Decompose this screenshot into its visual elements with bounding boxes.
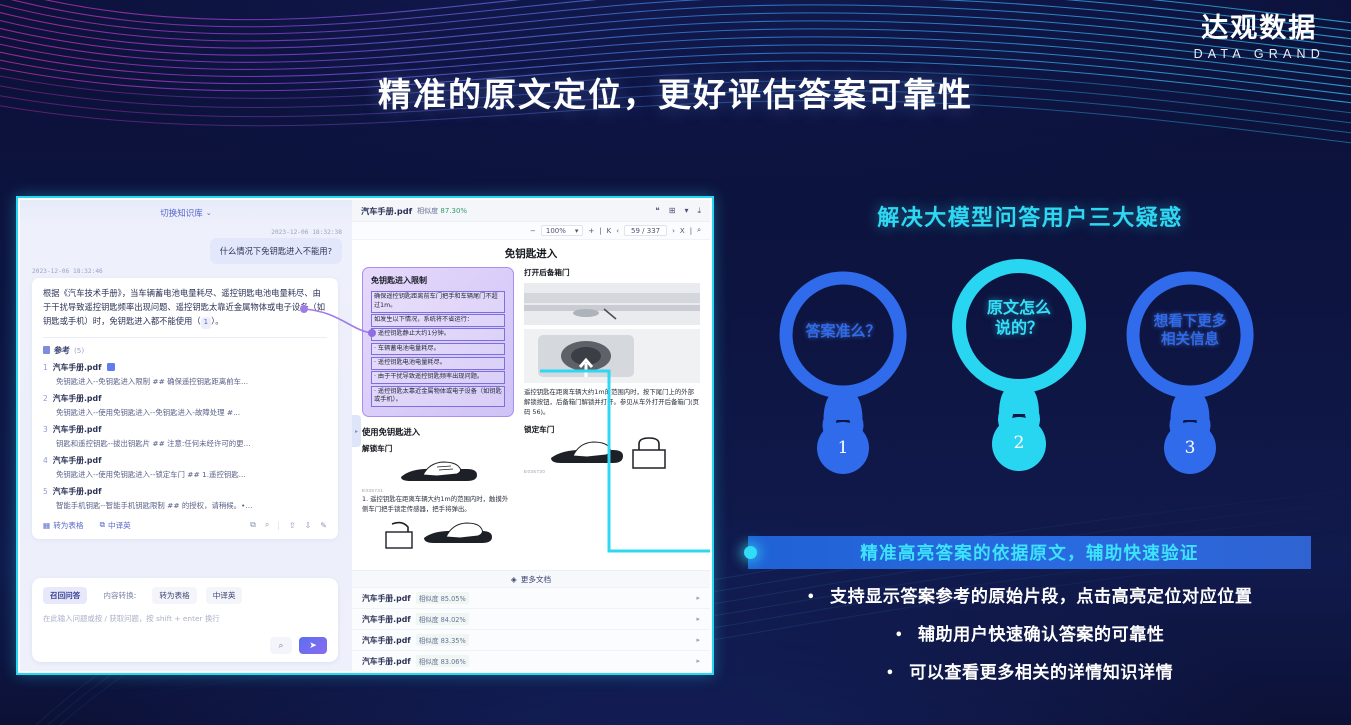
similarity-label: 相似度: [419, 616, 439, 624]
user-question-bubble: 什么情况下免钥匙进入不能用?: [210, 238, 342, 264]
bullet-mark: •: [807, 590, 816, 605]
pin-2-label-line2: 说的？: [995, 318, 1043, 337]
chevron-right-icon[interactable]: ▸: [696, 657, 700, 665]
pin-1-number: 1: [770, 438, 916, 458]
reference-file: 汽车手册.pdf: [53, 362, 102, 373]
knowledge-base-switcher[interactable]: 切换知识库 ⌄: [160, 207, 211, 219]
prev-page-button[interactable]: ‹: [616, 227, 619, 235]
answer-toolbar: ▦ 转为表格 ⧉ 中译英 ⧉ ⌕ | ⇧ ⇩ ✎: [43, 520, 327, 531]
trunk-illustration: [524, 283, 700, 325]
answer-body: 根据《汽车技术手册》，当车辆蓄电池电量耗尽、遥控钥匙电池电量耗尽、由于干扰导致遥…: [43, 288, 325, 326]
zoom-in-button[interactable]: +: [588, 227, 594, 235]
zoom-out-button[interactable]: −: [530, 227, 536, 235]
chevron-down-icon: ▾: [575, 227, 579, 235]
answer-tail: ）。: [211, 316, 223, 326]
brand-name-en: DATA GRAND: [1194, 47, 1325, 61]
pdf-section-trunk: 打开后备箱门: [524, 267, 700, 278]
doc-similarity: 相似度 83.35%: [416, 634, 469, 646]
answer-timestamp: 2023-12-06 18:32:46: [20, 264, 352, 278]
zoom-select[interactable]: 100% ▾: [541, 225, 584, 236]
first-page-button[interactable]: K: [607, 227, 612, 235]
grid-icon: ▦: [43, 521, 50, 530]
panel-collapse-handle[interactable]: ▸: [352, 415, 361, 447]
pdf-page-content: 免钥匙进入 免钥匙进入限制 确保遥控钥匙距离前车门把手和车辆尾门不超过1m。 如…: [352, 240, 710, 570]
reference-file: 汽车手册.pdf: [53, 486, 102, 497]
pin-1-text: 答案准么？: [770, 322, 916, 340]
table-row[interactable]: 汽车手册.pdf 相似度 85.05% ▸: [352, 587, 710, 608]
references-count: (5): [74, 346, 84, 355]
chevron-down-icon: ⌄: [206, 209, 212, 217]
translate-icon: ⧉: [100, 520, 105, 530]
pin-group: 答案准么？ 1 原文怎么 说的？ 2 想看下更多 相关信息 3: [760, 270, 1300, 485]
last-page-button[interactable]: X: [680, 227, 685, 235]
doc-similarity: 相似度 83.06%: [416, 655, 469, 667]
reference-title-row: 5 汽车手册.pdf: [43, 486, 327, 497]
similarity-label: 相似度: [419, 637, 439, 645]
pin-3-label-line1: 想看下更多: [1154, 314, 1227, 330]
doc-similarity: 相似度 85.05%: [416, 592, 469, 604]
product-screenshot-panel: 切换知识库 ⌄ 2023-12-06 18:32:38 什么情况下免钥匙进入不能…: [16, 196, 714, 675]
pin-3-text: 想看下更多 相关信息: [1117, 314, 1263, 349]
highlight-line: 如发生以下情况，系统将不省运行：: [371, 314, 505, 327]
divider: |: [690, 227, 692, 235]
feature-bullets: • 支持显示答案参考的原始片段，点击高亮定位对应位置 • 辅助用户快速确认答案的…: [748, 582, 1311, 696]
composer-input[interactable]: 在此输入问题或按 / 获取问题，按 shift + enter 换行: [43, 613, 327, 624]
pdf-document-title: 免钥匙进入: [362, 246, 700, 261]
highlight-line: · 由于干扰导致遥控钥匙频率出现问题。: [371, 371, 505, 384]
bullet-text: 支持显示答案参考的原始片段，点击高亮定位对应位置: [830, 587, 1252, 607]
chevron-right-icon[interactable]: ▸: [696, 636, 700, 644]
pdf-section-unlock: 解锁车门: [362, 443, 514, 454]
similarity-value: 83.35%: [441, 637, 466, 645]
page-indicator[interactable]: 59 / 337: [624, 225, 667, 236]
reference-snippet: 免钥匙进入--使用免钥匙进入--免钥匙进入-故障处理 #...: [56, 407, 327, 418]
feature-banner: 精准高亮答案的依据原文，辅助快速验证: [748, 536, 1311, 569]
trunk-text: 遥控钥匙在距离车辆大约1m的范围内时，按下尾门上的外部解锁按钮，后备箱门解锁并打…: [524, 388, 700, 418]
pin-2[interactable]: 原文怎么 说的？ 2: [946, 258, 1092, 488]
thumb-up-icon[interactable]: ⇧: [289, 521, 296, 530]
question-timestamp: 2023-12-06 18:32:38: [20, 226, 352, 238]
search-icon[interactable]: ⌕: [265, 520, 269, 530]
citation-chip[interactable]: 1: [201, 317, 211, 329]
divider: |: [599, 227, 601, 235]
similarity-value: 84.02%: [441, 616, 466, 624]
reference-snippet: 免钥匙进入--使用免钥匙进入--锁定车门 ## 1.遥控钥匙...: [56, 469, 327, 480]
bulb-icon: ◈: [511, 575, 517, 584]
doc-name: 汽车手册.pdf: [362, 593, 411, 604]
pin-1-label: 答案准么？: [805, 322, 880, 340]
highlight-line: · 遥控钥匙静止大约1分钟。: [371, 328, 505, 341]
chevron-right-icon[interactable]: ▸: [696, 615, 700, 623]
reference-file: 汽车手册.pdf: [53, 393, 102, 404]
figure-caption: E036731: [362, 488, 514, 493]
translate-label: 中译英: [108, 520, 131, 531]
text-select-icon[interactable]: ⊞: [669, 206, 676, 215]
hand-touch-illustration: [362, 459, 514, 485]
quote-icon[interactable]: ❝: [655, 206, 659, 215]
knowledge-base-switcher-label: 切换知识库: [160, 207, 203, 219]
unlock-hand-icon: [378, 518, 498, 550]
thumb-down-icon[interactable]: ⇩: [305, 521, 312, 530]
locate-icon[interactable]: [107, 363, 115, 371]
pdf-toolbar: − 100% ▾ + | K ‹ 59 / 337 › X | ⌕: [352, 222, 710, 240]
send-icon[interactable]: ➤: [299, 637, 327, 654]
list-item[interactable]: 3 汽车手册.pdf 钥匙和遥控钥匙--拔出钥匙片 ## 注意:任何未经许可的更…: [43, 424, 327, 449]
pdf-left-column: 免钥匙进入限制 确保遥控钥匙距离前车门把手和车辆尾门不超过1m。 如发生以下情况…: [362, 267, 514, 547]
similarity-value: 85.05%: [441, 595, 466, 603]
pin-3-label-line2: 相关信息: [1161, 332, 1219, 348]
pin-1[interactable]: 答案准么？ 1: [770, 270, 916, 490]
references-header: 参考 (5): [43, 345, 327, 356]
pdf-section-use: 使用免钥匙进入: [362, 426, 514, 438]
divider: |: [277, 521, 280, 530]
page-title: 精准的原文定位，更好评估答案可靠性: [0, 68, 1351, 116]
pin-2-label-line1: 原文怎么: [987, 298, 1051, 317]
more-documents-label: 更多文档: [521, 574, 551, 585]
more-icon[interactable]: ▾: [684, 206, 688, 215]
composer-buttons: ⌕ ➤: [43, 637, 327, 654]
feature-banner-text: 精准高亮答案的依据原文，辅助快速验证: [860, 540, 1198, 565]
pin-3[interactable]: 想看下更多 相关信息 3: [1117, 270, 1263, 490]
list-item[interactable]: 4 汽车手册.pdf 免钥匙进入--使用免钥匙进入--锁定车门 ## 1.遥控钥…: [43, 455, 327, 480]
next-page-button[interactable]: ›: [672, 227, 675, 235]
trunk-button-photo: [524, 329, 700, 383]
brand-name-cn: 达观数据: [1194, 14, 1325, 44]
edit-icon[interactable]: ✎: [320, 521, 327, 530]
search-icon[interactable]: ⌕: [270, 637, 292, 654]
reference-snippet: 智能手机钥匙--智能手机钥匙限制 ## 的授权，请稍候。•...: [56, 500, 327, 511]
pdf-step-text: 1. 遥控钥匙在距离车辆大约1m的范围内时，触摸外侧车门把手锁定传感器，把手将弹…: [362, 495, 514, 515]
similarity-value: 83.06%: [441, 658, 466, 666]
composer-mode-row: 召回问答 内容转换: 转为表格 中译英: [43, 587, 327, 604]
right-subtitle: 解决大模型问答用户三大疑惑: [760, 200, 1300, 232]
trunk-button-illustration: [524, 329, 700, 383]
brand-logo: 达观数据 DATA GRAND: [1194, 14, 1325, 61]
zoom-value: 100%: [546, 227, 566, 235]
references-label: 参考: [54, 345, 70, 356]
doc-name: 汽车手册.pdf: [362, 656, 411, 667]
highlight-line: 确保遥控钥匙距离前车门把手和车辆尾门不超过1m。: [371, 291, 505, 313]
doc-name: 汽车手册.pdf: [362, 614, 411, 625]
reference-title-row: 2 汽车手册.pdf: [43, 393, 327, 404]
chat-header: 切换知识库 ⌄: [20, 200, 352, 226]
reference-snippet: 免钥匙进入--免钥匙进入限制 ## 确保遥控钥匙距离前车...: [56, 376, 327, 387]
reference-snippet: 钥匙和遥控钥匙--拔出钥匙片 ## 注意:任何未经许可的更...: [56, 438, 327, 449]
reference-title-row: 3 汽车手册.pdf: [43, 424, 327, 435]
pin-3-number: 3: [1117, 438, 1263, 458]
trunk-photo: [524, 283, 700, 325]
reference-index: 1: [43, 363, 48, 372]
table-row[interactable]: 汽车手册.pdf 相似度 83.06% ▸: [352, 650, 710, 671]
table-row[interactable]: 汽车手册.pdf 相似度 83.35% ▸: [352, 629, 710, 650]
similarity-value: 87.30%: [440, 207, 467, 215]
highlight-line: · 遥控钥匙电池电量耗尽。: [371, 357, 505, 370]
list-item: • 可以查看更多相关的详情知识详情: [748, 658, 1311, 683]
reference-index: 4: [43, 456, 48, 465]
reference-title-row: 4 汽车手册.pdf: [43, 455, 327, 466]
divider: [43, 337, 327, 338]
to-table-button[interactable]: ▦ 转为表格: [43, 520, 84, 531]
pdf-similarity: 相似度 87.30%: [417, 206, 467, 216]
chevron-right-icon[interactable]: ▸: [696, 594, 700, 602]
convert-option-to-table[interactable]: 转为表格: [152, 587, 196, 604]
lock-hand-icon: [547, 436, 677, 470]
pin-2-number: 2: [946, 433, 1092, 453]
bullet-text: 可以查看更多相关的详情知识详情: [909, 663, 1173, 683]
copy-icon[interactable]: ⧉: [250, 520, 256, 530]
convert-option-translate[interactable]: 中译英: [206, 587, 243, 604]
mode-chip-recall-qa[interactable]: 召回问答: [43, 587, 87, 604]
search-icon[interactable]: ⌕: [697, 226, 701, 235]
reference-index: 5: [43, 487, 48, 496]
hand-door-handle-icon: [393, 459, 483, 485]
similarity-label: 相似度: [419, 658, 439, 666]
answer-text: 根据《汽车技术手册》，当车辆蓄电池电量耗尽、遥控钥匙电池电量耗尽、由于干扰导致遥…: [43, 287, 327, 329]
reference-index: 3: [43, 425, 48, 434]
highlighted-source-block[interactable]: 免钥匙进入限制 确保遥控钥匙距离前车门把手和车辆尾门不超过1m。 如发生以下情况…: [362, 267, 514, 417]
pdf-file-name: 汽车手册.pdf: [361, 205, 412, 217]
doc-name: 汽车手册.pdf: [362, 635, 411, 646]
bullet-mark: •: [886, 666, 895, 681]
translate-button[interactable]: ⧉ 中译英: [100, 520, 131, 531]
convert-label: 内容转换:: [96, 587, 143, 604]
pdf-header: 汽车手册.pdf 相似度 87.30% ❝ ⊞ ▾ ⤓: [352, 200, 710, 222]
pin-2-text: 原文怎么 说的？: [946, 298, 1092, 337]
list-item[interactable]: 1 汽车手册.pdf 免钥匙进入--免钥匙进入限制 ## 确保遥控钥匙距离前车.…: [43, 362, 327, 387]
pdf-viewer-column: 汽车手册.pdf 相似度 87.30% ❝ ⊞ ▾ ⤓ − 100% ▾ + |…: [352, 200, 710, 671]
to-table-label: 转为表格: [53, 520, 83, 531]
list-item: • 支持显示答案参考的原始片段，点击高亮定位对应位置: [748, 582, 1311, 607]
table-row[interactable]: 汽车手册.pdf 相似度 84.02% ▸: [352, 608, 710, 629]
reference-title-row: 1 汽车手册.pdf: [43, 362, 327, 373]
similarity-label: 相似度: [419, 595, 439, 603]
pdf-right-column: 打开后备箱门: [524, 267, 700, 547]
bullet-text: 辅助用户快速确认答案的可靠性: [918, 625, 1164, 645]
more-documents-header[interactable]: ◈ 更多文档: [352, 570, 710, 587]
reference-index: 2: [43, 394, 48, 403]
pdf-section-lock: 锁定车门: [524, 424, 700, 435]
bullet-mark: •: [895, 628, 904, 643]
list-item[interactable]: 5 汽车手册.pdf 智能手机钥匙--智能手机钥匙限制 ## 的授权，请稍候。•…: [43, 486, 327, 511]
highlight-line: · 车辆蓄电池电量耗尽。: [371, 343, 505, 356]
chat-composer: 召回问答 内容转换: 转为表格 中译英 在此输入问题或按 / 获取问题，按 sh…: [32, 578, 338, 662]
highlight-heading: 免钥匙进入限制: [371, 275, 505, 286]
reference-book-icon: [43, 346, 50, 354]
doc-similarity: 相似度 84.02%: [416, 613, 469, 625]
chat-column: 切换知识库 ⌄ 2023-12-06 18:32:38 什么情况下免钥匙进入不能…: [20, 200, 352, 671]
list-item[interactable]: 2 汽车手册.pdf 免钥匙进入--使用免钥匙进入--免钥匙进入-故障处理 #.…: [43, 393, 327, 418]
lock-hand-illustration: [362, 521, 514, 547]
similarity-label: 相似度: [417, 207, 438, 215]
reference-file: 汽车手册.pdf: [53, 455, 102, 466]
answer-card: 根据《汽车技术手册》，当车辆蓄电池电量耗尽、遥控钥匙电池电量耗尽、由于干扰导致遥…: [32, 278, 338, 539]
highlight-line: · 遥控钥匙太靠近金属物体或电子设备（如钥匙或手机）。: [371, 386, 505, 408]
lock-illustration: [524, 440, 700, 466]
list-item: • 辅助用户快速确认答案的可靠性: [748, 620, 1311, 645]
download-icon[interactable]: ⤓: [697, 206, 701, 216]
banner-connector-dot: [744, 546, 757, 559]
reference-file: 汽车手册.pdf: [53, 424, 102, 435]
